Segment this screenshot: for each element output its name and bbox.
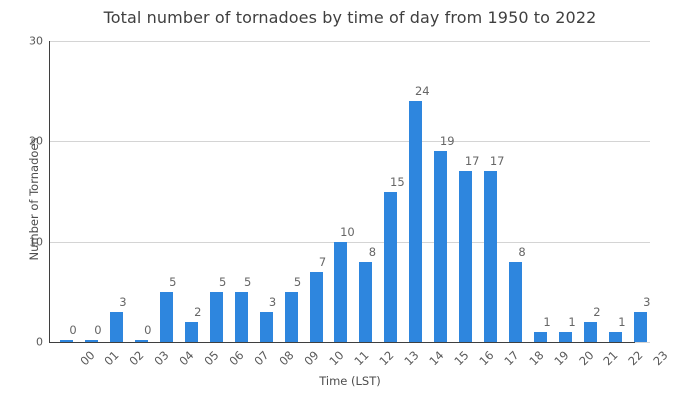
bar-value-label: 8 bbox=[502, 245, 542, 259]
bar-value-label: 3 bbox=[103, 295, 143, 309]
bar[interactable] bbox=[60, 340, 73, 342]
y-axis-title: Number of Tornadoes bbox=[27, 99, 41, 299]
x-axis-tick-label: 10 bbox=[326, 348, 346, 368]
bar-chart: Total number of tornadoes by time of day… bbox=[0, 0, 700, 400]
x-axis-tick-label: 06 bbox=[226, 348, 246, 368]
x-axis-tick-label: 15 bbox=[451, 348, 471, 368]
chart-title: Total number of tornadoes by time of day… bbox=[0, 8, 700, 27]
bar-value-label: 24 bbox=[402, 84, 442, 98]
x-axis-tick-label: 11 bbox=[351, 348, 371, 368]
y-axis-title-holder: Number of Tornadoes bbox=[14, 70, 15, 290]
x-axis-tick-label: 08 bbox=[276, 348, 296, 368]
x-axis-tick-label: 17 bbox=[501, 348, 521, 368]
x-axis-tick-label: 04 bbox=[177, 348, 197, 368]
bar[interactable] bbox=[409, 101, 422, 342]
y-axis-tick-label: 30 bbox=[0, 35, 43, 48]
bar-value-label: 3 bbox=[627, 295, 667, 309]
x-axis-tick-label: 23 bbox=[651, 348, 671, 368]
bar[interactable] bbox=[285, 292, 298, 342]
bar[interactable] bbox=[484, 171, 497, 342]
y-axis-tick-label: 0 bbox=[0, 336, 43, 349]
x-axis-tick-label: 14 bbox=[426, 348, 446, 368]
bar-value-label: 5 bbox=[228, 275, 268, 289]
x-axis-tick-label: 16 bbox=[476, 348, 496, 368]
bar-value-label: 10 bbox=[327, 225, 367, 239]
bar[interactable] bbox=[509, 262, 522, 342]
bar[interactable] bbox=[334, 242, 347, 342]
x-axis-tick-label: 02 bbox=[127, 348, 147, 368]
bar[interactable] bbox=[384, 192, 397, 343]
bar-value-label: 19 bbox=[427, 134, 467, 148]
x-axis-tick-label: 22 bbox=[626, 348, 646, 368]
bar[interactable] bbox=[359, 262, 372, 342]
bar[interactable] bbox=[434, 151, 447, 342]
bar-value-label: 5 bbox=[153, 275, 193, 289]
bar[interactable] bbox=[609, 332, 622, 342]
bar[interactable] bbox=[634, 312, 647, 342]
bar[interactable] bbox=[210, 292, 223, 342]
bar[interactable] bbox=[534, 332, 547, 342]
bar[interactable] bbox=[235, 292, 248, 342]
x-axis-line bbox=[49, 342, 635, 343]
x-axis-tick-label: 20 bbox=[576, 348, 596, 368]
plot-area: 003052553571081524191717811213 bbox=[49, 41, 650, 342]
x-axis-tick-label: 19 bbox=[551, 348, 571, 368]
x-axis-tick-label: 05 bbox=[202, 348, 222, 368]
x-axis-tick-label: 12 bbox=[376, 348, 396, 368]
bar[interactable] bbox=[85, 340, 98, 342]
x-axis-tick-label: 07 bbox=[251, 348, 271, 368]
bar[interactable] bbox=[310, 272, 323, 342]
x-axis-tick-label: 21 bbox=[601, 348, 621, 368]
bar[interactable] bbox=[160, 292, 173, 342]
bar[interactable] bbox=[110, 312, 123, 342]
x-axis-tick-label: 18 bbox=[526, 348, 546, 368]
bar-value-label: 17 bbox=[477, 154, 517, 168]
x-axis-tick-label: 03 bbox=[152, 348, 172, 368]
x-axis-title: Time (LST) bbox=[0, 374, 700, 388]
bar[interactable] bbox=[185, 322, 198, 342]
bar[interactable] bbox=[135, 340, 148, 342]
bar[interactable] bbox=[459, 171, 472, 342]
x-axis-tick-label: 00 bbox=[77, 348, 97, 368]
bar[interactable] bbox=[584, 322, 597, 342]
x-axis-tick-label: 09 bbox=[301, 348, 321, 368]
bar[interactable] bbox=[559, 332, 572, 342]
x-axis-tick-label: 01 bbox=[102, 348, 122, 368]
bar[interactable] bbox=[260, 312, 273, 342]
x-axis-tick-label: 13 bbox=[401, 348, 421, 368]
